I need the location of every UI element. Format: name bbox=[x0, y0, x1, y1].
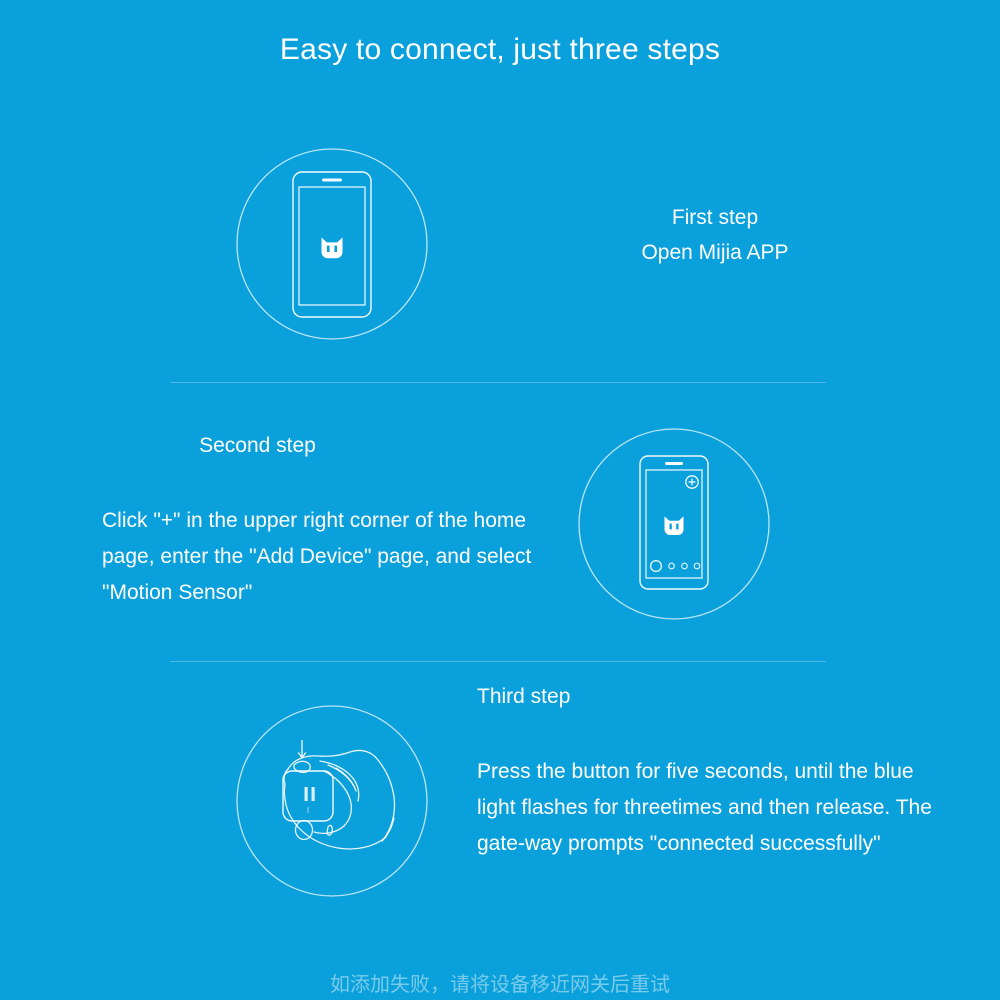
nav-dots bbox=[651, 561, 700, 572]
phone-add-device-screen bbox=[578, 428, 770, 620]
connection-guide-page: Easy to connect, just three steps First … bbox=[0, 0, 1000, 1000]
step-1-text-block: First step Open Mijia APP bbox=[540, 205, 890, 267]
step-3-body: Press the button for five seconds, until… bbox=[477, 754, 947, 862]
hand-outline bbox=[284, 750, 395, 849]
step-1-illustration bbox=[236, 148, 428, 340]
section-divider-1 bbox=[170, 382, 826, 383]
down-arrow-icon bbox=[298, 740, 306, 758]
phone-mijia-app-icon bbox=[236, 148, 428, 340]
step-2-text-block: Second step Click "+" in the upper right… bbox=[102, 433, 542, 611]
page-title: Easy to connect, just three steps bbox=[0, 33, 1000, 67]
nav-dot bbox=[669, 563, 675, 569]
step-3-text-block: Third step Press the button for five sec… bbox=[477, 684, 947, 862]
nav-dot bbox=[694, 563, 700, 569]
step-1-body: Open Mijia APP bbox=[540, 240, 890, 266]
nav-dot-active bbox=[651, 561, 662, 572]
section-divider-2 bbox=[170, 661, 826, 662]
sensor-button-bar bbox=[305, 787, 308, 801]
phone-speaker-slot bbox=[665, 462, 683, 465]
step-2-body: Click "+" in the upper right corner of t… bbox=[102, 503, 542, 611]
hand-pressing-sensor-button bbox=[236, 705, 428, 897]
nav-dot bbox=[682, 563, 688, 569]
plus-circle-icon bbox=[686, 476, 698, 488]
circle-outline bbox=[237, 706, 427, 896]
step-2-illustration bbox=[578, 428, 770, 620]
footnote-text: 如添加失败，请将设备移近网关后重试 bbox=[0, 968, 1000, 997]
step-2-heading: Second step bbox=[0, 433, 515, 459]
sensor-button-bar bbox=[312, 787, 315, 801]
motion-sensor-device bbox=[283, 771, 333, 821]
mijia-logo-icon bbox=[322, 238, 343, 259]
phone-speaker-slot bbox=[322, 179, 342, 182]
step-3-heading: Third step bbox=[477, 684, 947, 710]
step-3-illustration bbox=[236, 705, 428, 897]
mijia-logo-icon bbox=[665, 516, 684, 535]
step-1-heading: First step bbox=[540, 205, 890, 231]
